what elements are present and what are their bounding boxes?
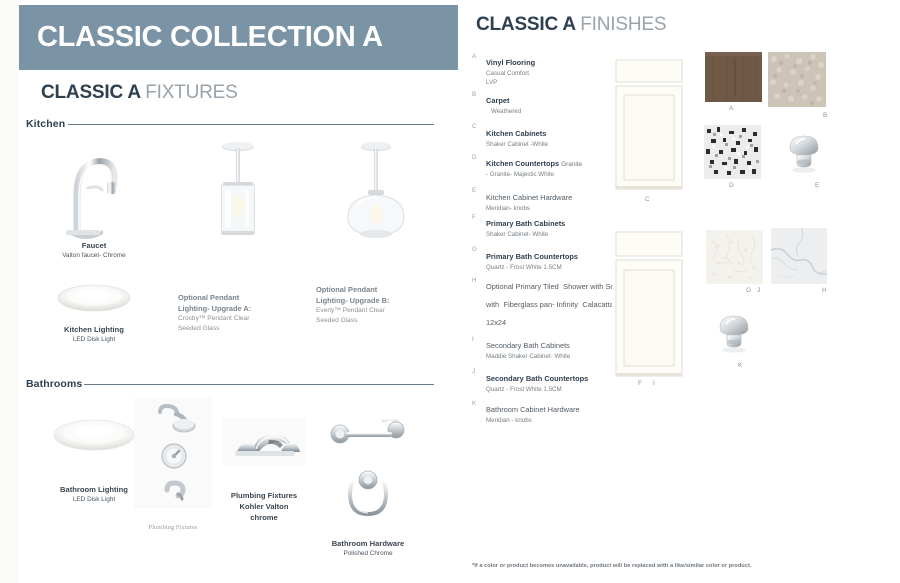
finish-name-k: Bathroom Cabinet Hardware (486, 405, 580, 414)
fixture-kitchen-lighting: Kitchen Lighting LED Disk Light (48, 278, 140, 344)
finishes-title-strong: CLASSIC A (476, 14, 575, 35)
finish-letter-a: A (472, 53, 476, 60)
finish-letter-j: J (472, 368, 475, 375)
bath-faucet-icon (223, 418, 305, 466)
finish-name-d-text: Kitchen Countertops (486, 159, 559, 168)
pendant-b-caption-l3: Everly™ Pendant Clear (316, 306, 436, 316)
fixture-pendant-upgrade-b: Optional Pendant Lighting- Upgrade B: Ev… (316, 138, 436, 325)
swatch-vinyl-a (705, 52, 762, 102)
finishes-list-group-2: F Primary Bath Cabinets Shaker Cabinet- … (472, 213, 624, 429)
swatch-label-e: E (815, 182, 819, 189)
plumbing-shower-caption: Plumbing Fixtures (133, 524, 213, 531)
finish-letter-b: B (472, 91, 476, 98)
swatch-quartz-g-j (706, 230, 763, 284)
banner-title-bar: CLASSIC COLLECTION A (19, 5, 458, 70)
pendant-cylinder-icon (203, 138, 273, 278)
swatch-label-j: J (757, 287, 760, 294)
finish-desc-i: Maddie Shaker Cabinet- White (486, 353, 624, 362)
finish-item-a: A Vinyl Flooring Casual Comfort LVP (472, 52, 624, 87)
shaker-cabinet-icon (612, 230, 686, 380)
group-rule-bathrooms (84, 384, 434, 385)
finishes-section-title: CLASSIC A FINISHES (476, 14, 666, 36)
fixtures-section-title: CLASSIC A FIXTURES (41, 82, 238, 104)
bathroom-lighting-caption-main: Bathroom Lighting (48, 484, 140, 495)
cabinet-knob-icon (710, 310, 758, 356)
faucet-caption-main: Faucet (44, 240, 144, 251)
swatch-cabinet-c (612, 58, 686, 193)
bathroom-hardware-caption-sub: Polished Chrome (318, 549, 418, 558)
finish-letter-g: G (472, 246, 477, 253)
finish-item-j: J Secondary Bath Countertops Quartz - Fr… (472, 368, 624, 395)
finish-name-b: Carpet (486, 96, 509, 105)
cabinet-knob-icon (780, 130, 828, 176)
vinyl-plank-swatch (705, 52, 762, 102)
swatch-label-b: B (823, 112, 827, 119)
finish-desc-d: - Granite- Majestic White (486, 171, 624, 180)
towel-bar-icon (320, 408, 416, 458)
finish-name-d: Kitchen Countertops Granite (486, 159, 582, 168)
finish-letter-i: I (472, 336, 474, 343)
swatch-label-i: I (653, 380, 655, 387)
finish-item-c: C Kitchen Cabinets Shaker Cabinet -White (472, 123, 624, 150)
granite-swatch (704, 125, 761, 179)
right-panel: CLASSIC A FINISHES A Vinyl Flooring Casu… (458, 0, 900, 583)
finish-desc-a: Casual Comfort (486, 70, 624, 79)
pendant-schoolhouse-icon (340, 138, 412, 278)
finish-name-j: Secondary Bath Countertops (486, 374, 588, 383)
finish-name-c: Kitchen Cabinets (486, 129, 546, 138)
kitchen-lighting-caption-sub: LED Disk Light (48, 335, 140, 344)
bath-faucet-image-box (223, 418, 305, 466)
shower-trim-icon (134, 398, 212, 508)
brochure-page: CLASSIC COLLECTION A CLASSIC A FIXTURES … (0, 0, 900, 583)
finish-letter-e: E (472, 187, 476, 194)
finish-item-h: H Optional Primary Tiled Shower with Sea… (472, 276, 624, 330)
finish-desc-b: Weathered (486, 108, 624, 117)
swatch-label-h: H (822, 287, 827, 294)
finish-letter-c: C (472, 123, 476, 130)
fixture-faucet: Faucet Valton faucet- Chrome (44, 140, 144, 260)
kitchen-lighting-caption-main: Kitchen Lighting (48, 324, 140, 335)
finish-desc-k: Meridian - knobs (486, 417, 624, 426)
group-header-kitchen: Kitchen (26, 118, 65, 130)
bathroom-hardware-caption-main: Bathroom Hardware (318, 538, 418, 549)
finish-desc-a-2: LVP (486, 79, 624, 88)
shaker-cabinet-icon (612, 58, 686, 193)
pendant-a-caption-l3: Crosby™ Pendant Clear (178, 314, 298, 324)
finishes-list-group-1: A Vinyl Flooring Casual Comfort LVP B Ca… (472, 52, 624, 216)
finish-letter-d: D (472, 154, 476, 161)
finish-desc-c: Shaker Cabinet -White (486, 141, 624, 150)
swatch-label-c: C (645, 196, 650, 203)
finish-letter-f: F (472, 214, 476, 221)
pendant-b-caption-l2: Lighting- Upgrade B: (316, 295, 436, 306)
swatch-label-g: G (746, 287, 751, 294)
carpet-swatch (768, 52, 826, 107)
fixture-pendant-upgrade-a: Optional Pendant Lighting- Upgrade A: Cr… (178, 138, 298, 333)
finish-name-f: Primary Bath Cabinets (486, 219, 565, 228)
page-title: CLASSIC COLLECTION A (19, 21, 383, 54)
disclaimer-footnote: *If a color or product becomes unavailab… (472, 563, 892, 569)
finish-desc-f: Shaker Cabinet- White (486, 231, 624, 240)
swatch-label-f: F (638, 380, 642, 387)
fixture-plumbing-faucet: Plumbing Fixtures Kohler Valton chrome (222, 418, 306, 523)
fixtures-title-light: FIXTURES (145, 82, 237, 103)
towel-ring-icon (320, 468, 416, 530)
finish-name-g: Primary Bath Countertops (486, 252, 578, 261)
finish-name-e: Kitchen Cabinet Hardware (486, 193, 572, 202)
swatch-knob-e (780, 130, 828, 176)
plumbing-faucet-caption-l3: chrome (222, 512, 306, 523)
shower-image-box (134, 398, 212, 508)
finishes-title-light: FINISHES (580, 14, 666, 35)
finish-name-h-l1: Optional Primary Tiled (486, 282, 559, 291)
finish-item-i: I Secondary Bath Cabinets Maddie Shaker … (472, 335, 624, 362)
finish-item-k: K Bathroom Cabinet Hardware Meridian - k… (472, 399, 624, 426)
swatch-label-a: A (729, 105, 733, 112)
swatch-granite-d (704, 125, 761, 179)
finish-letter-h: H (472, 277, 476, 284)
marble-tile-swatch (771, 228, 827, 284)
pendant-b-caption-l1: Optional Pendant (316, 284, 436, 295)
pendant-a-caption-l2: Lighting- Upgrade A: (178, 303, 298, 314)
swatch-knob-k (710, 310, 758, 356)
finish-item-g: G Primary Bath Countertops Quartz - Fros… (472, 246, 624, 273)
finish-letter-k: K (472, 400, 476, 407)
swatch-label-d: D (729, 182, 734, 189)
finish-desc-g: Quartz - Frost White 1.5CM (486, 264, 624, 273)
plumbing-faucet-caption-l2: Kohler Valton (222, 501, 306, 512)
finish-desc-e: Meridian- knobs (486, 205, 624, 214)
bathroom-lighting-caption-sub: LED Disk Light (48, 495, 140, 504)
swatch-cabinet-f-i (612, 230, 686, 380)
finish-item-b: B Carpet Weathered (472, 90, 624, 117)
faucet-icon (44, 140, 144, 240)
pendant-a-caption-l4: Seeded Glass (178, 324, 298, 334)
finish-name-d-inline: Granite (561, 161, 582, 168)
finish-item-d: D Kitchen Countertops Granite - Granite-… (472, 153, 624, 180)
group-rule-kitchen (68, 124, 434, 125)
finish-item-e: E Kitchen Cabinet Hardware Meridian- kno… (472, 187, 624, 214)
swatch-label-k: K (738, 362, 742, 369)
fixtures-title-strong: CLASSIC A (41, 82, 140, 103)
swatch-calacatta-h (771, 228, 827, 284)
finish-name-i: Secondary Bath Cabinets (486, 341, 570, 350)
group-header-bathrooms: Bathrooms (26, 378, 82, 390)
quartz-swatch (706, 230, 763, 284)
fixture-bathroom-hardware: Bathroom Hardware Polished Chrome (318, 408, 418, 558)
disk-light-icon (48, 412, 140, 458)
plumbing-faucet-caption-l1: Plumbing Fixtures (222, 490, 306, 501)
finish-desc-j: Quartz - Frost White 1.5CM (486, 386, 624, 395)
pendant-a-caption-l1: Optional Pendant (178, 292, 298, 303)
disk-light-icon (48, 278, 140, 318)
finish-name-h-l3: Fiberglass pan- Infinity (504, 300, 578, 309)
finish-item-f: F Primary Bath Cabinets Shaker Cabinet- … (472, 213, 624, 240)
fixture-plumbing-shower: Plumbing Fixtures (133, 398, 213, 531)
fixture-bathroom-lighting: Bathroom Lighting LED Disk Light (48, 412, 140, 504)
faucet-caption-sub: Valton faucet- Chrome (44, 251, 144, 260)
pendant-b-caption-l4: Seeded Glass (316, 316, 436, 326)
finish-name-a: Vinyl Flooring (486, 58, 535, 67)
swatch-carpet-b (768, 52, 826, 107)
